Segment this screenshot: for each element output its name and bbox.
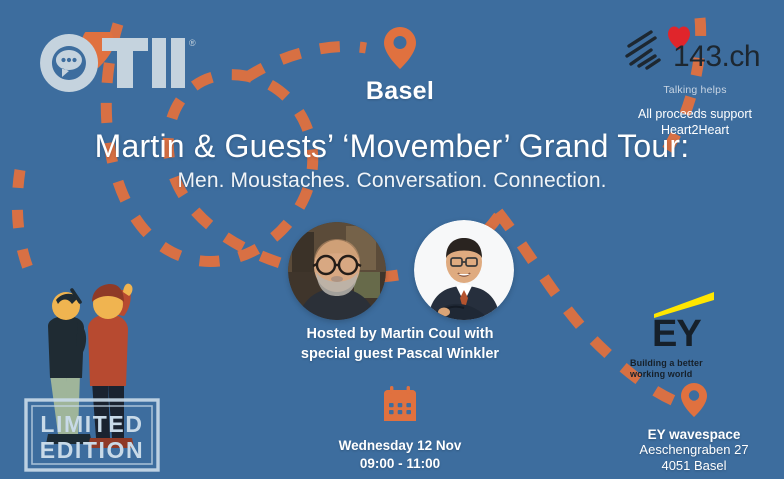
charity-tagline: Talking helps [610, 84, 780, 96]
motion-lines-icon [627, 32, 659, 68]
venue-name: EY wavespace [605, 427, 783, 442]
limited-edition-stamp: LIMITED EDITION [26, 400, 158, 470]
ey-wordmark: EY [652, 313, 701, 350]
charity-logo-block: 143.ch Talking helps All proceeds suppor… [610, 22, 780, 138]
venue-street: Aeschengraben 27 [605, 442, 783, 458]
ey-logo-block: EY Building a better working world [628, 288, 748, 380]
speech-bubble-icon [56, 50, 82, 77]
map-pin-icon [383, 26, 417, 70]
page-subtitle: Men. Moustaches. Conversation. Connectio… [0, 169, 784, 193]
ey-tagline: Building a better working world [630, 358, 748, 380]
badge-line-1: LIMITED [40, 411, 143, 437]
hosted-line-2: special guest Pascal Winkler [255, 345, 545, 365]
venue-block: EY wavespace Aeschengraben 27 4051 Basel [605, 382, 783, 473]
city-label: Basel [330, 77, 470, 106]
page-title: Martin & Guests’ ‘Movember’ Grand Tour: [0, 128, 784, 165]
map-pin-icon [680, 382, 708, 418]
event-day: Wednesday 12 Nov [330, 437, 470, 455]
ey-logo: EY [628, 288, 740, 350]
title-block: Martin & Guests’ ‘Movember’ Grand Tour: … [0, 128, 784, 193]
limited-edition-badge: LIMITED EDITION [20, 282, 170, 479]
venue-city: 4051 Basel [605, 458, 783, 474]
charity-wordmark: 143.ch [673, 40, 760, 73]
hosted-line-1: Hosted by Martin Coul with [255, 325, 545, 345]
host-portrait [288, 222, 386, 320]
charity-logo: 143.ch [621, 22, 769, 78]
event-poster: ® Basel 143.ch Talking helps All proceed… [0, 0, 784, 479]
registered-mark: ® [189, 38, 196, 48]
calendar-icon [379, 385, 421, 425]
hosted-by-text: Hosted by Martin Coul with special guest… [255, 325, 545, 364]
event-time: 09:00 - 11:00 [330, 455, 470, 473]
ey-tagline-line-1: Building a better [630, 358, 748, 369]
otii-logo: ® [38, 32, 198, 94]
event-date-block: Wednesday 12 Nov 09:00 - 11:00 [330, 385, 470, 473]
badge-line-2: EDITION [40, 437, 144, 463]
proceeds-line-1: All proceeds support [610, 107, 780, 123]
city-marker: Basel [330, 26, 470, 106]
guest-portrait [414, 220, 514, 320]
ey-tagline-line-2: working world [630, 369, 748, 380]
event-date-text: Wednesday 12 Nov 09:00 - 11:00 [330, 437, 470, 473]
